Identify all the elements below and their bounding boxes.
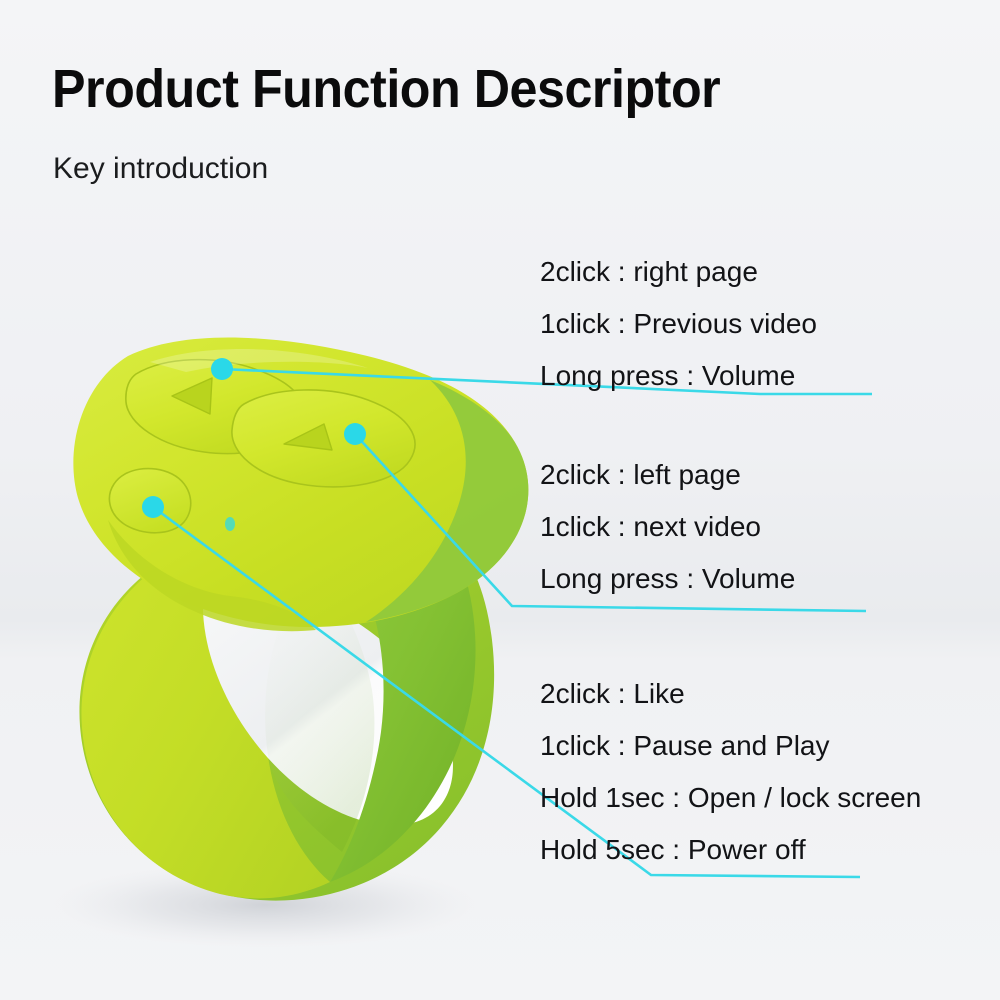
callout-line: 2click : left page — [540, 449, 795, 501]
product-shadow — [50, 863, 480, 947]
callout-dot-2[interactable] — [344, 423, 366, 445]
indicator-led — [225, 517, 235, 531]
callout-line: Long press : Volume — [540, 350, 817, 402]
ring-inner-shading — [265, 566, 374, 852]
device-top-highlight — [150, 349, 368, 372]
device-top-body — [73, 338, 528, 628]
callout-line: Hold 5sec : Power off — [540, 824, 921, 876]
callout-line: 2click : right page — [540, 246, 817, 298]
page-subtitle: Key introduction — [53, 152, 268, 186]
callout-dot-1[interactable] — [211, 358, 233, 380]
callout-line: 1click : next video — [540, 501, 795, 553]
infographic-canvas: Product Function Descriptor Key introduc… — [0, 0, 1000, 1000]
lower-arrow-button-glyph — [284, 424, 332, 450]
callout-block-side-button: 2click : Like 1click : Pause and Play Ho… — [540, 668, 921, 876]
callout-line: 1click : Pause and Play — [540, 720, 921, 772]
callout-line: 2click : Like — [540, 668, 921, 720]
callout-line: Hold 1sec : Open / lock screen — [540, 772, 921, 824]
callout-dot-3[interactable] — [142, 496, 164, 518]
ring-band-front — [330, 510, 476, 882]
upper-arrow-button-glyph — [172, 378, 212, 414]
side-oval-button[interactable] — [109, 469, 190, 533]
ring-inner-gap — [203, 584, 453, 825]
device-top-body-right-shade — [366, 380, 528, 622]
callout-block-top-button: 2click : right page 1click : Previous vi… — [540, 246, 817, 402]
page-title: Product Function Descriptor — [52, 58, 720, 120]
callout-line: 1click : Previous video — [540, 298, 817, 350]
ring-band-left-lobe — [81, 543, 330, 899]
device-body-lip — [108, 520, 316, 631]
callout-line: Long press : Volume — [540, 553, 795, 605]
callout-block-second-button: 2click : left page 1click : next video L… — [540, 449, 795, 605]
lower-arrow-button[interactable] — [232, 390, 415, 487]
upper-arrow-button[interactable] — [126, 360, 305, 454]
ring-band-outer — [79, 520, 494, 901]
